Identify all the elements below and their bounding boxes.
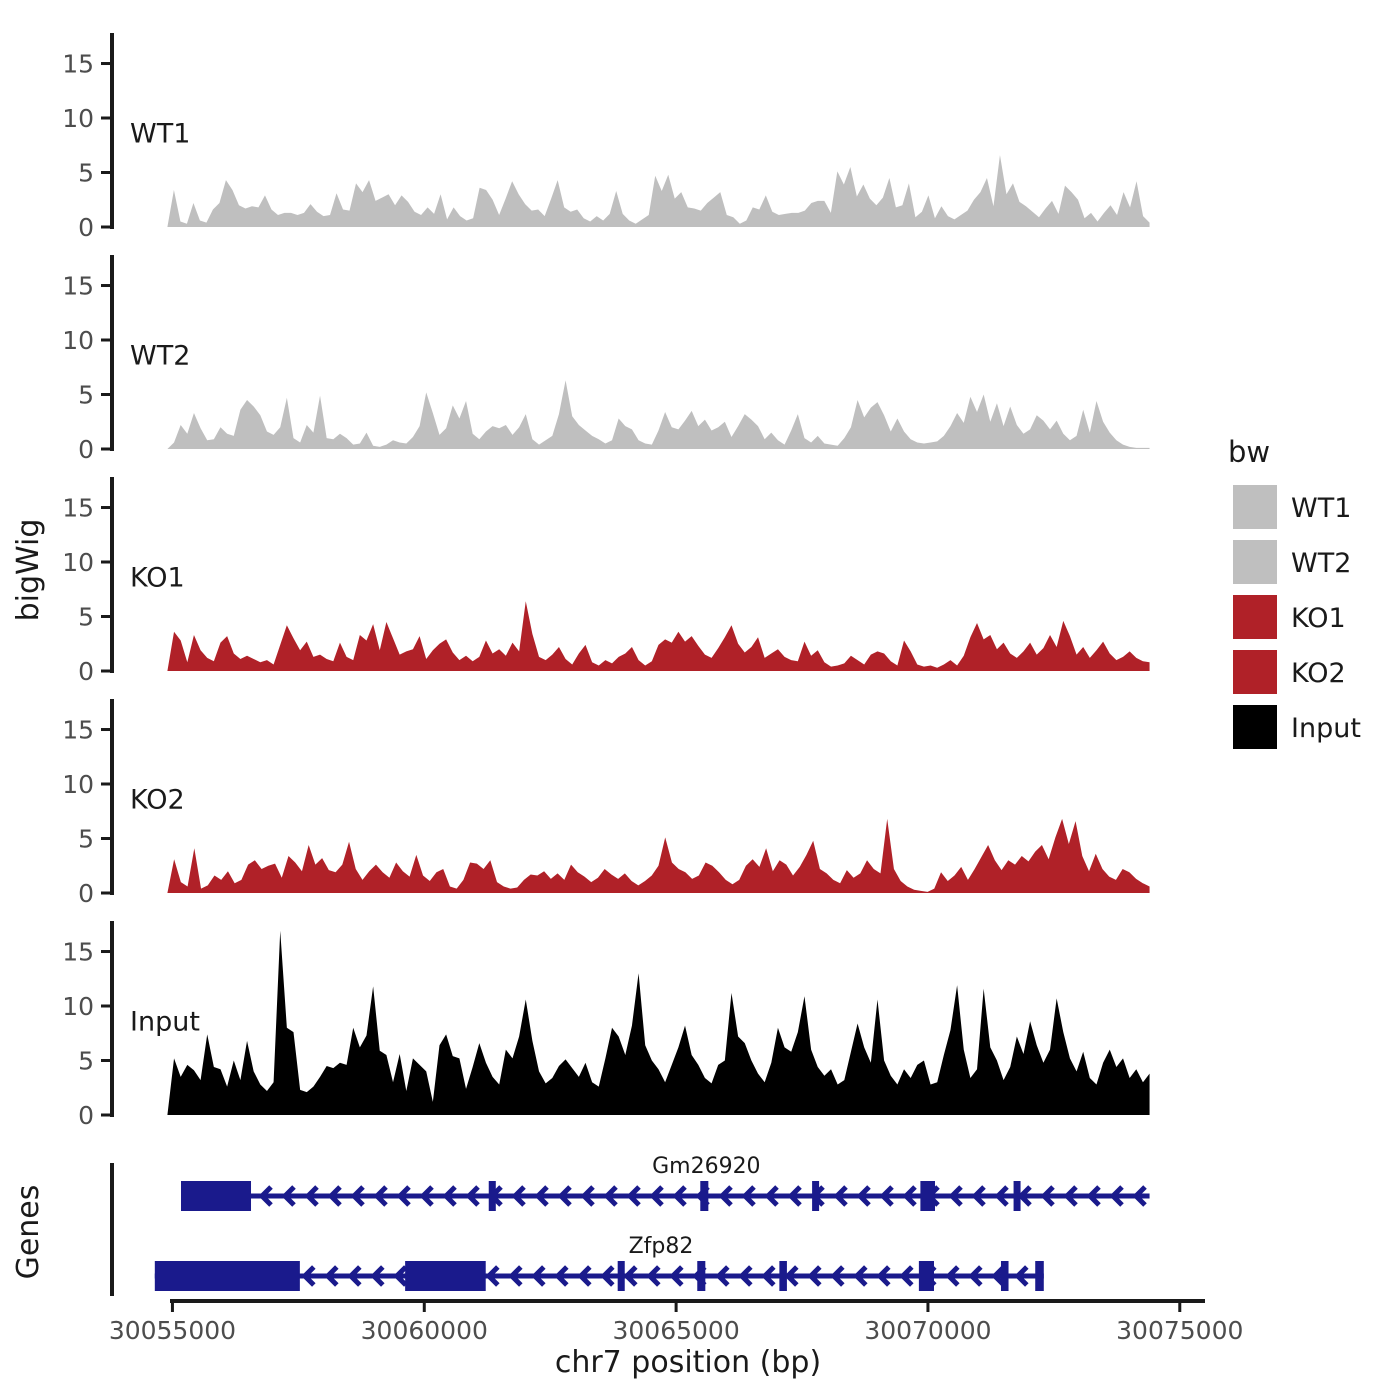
y-tick-label: 5 [78, 1047, 94, 1076]
y-tick-label: 15 [62, 272, 94, 301]
track-label-wt1: WT1 [130, 118, 190, 149]
gene-exon [700, 1181, 708, 1211]
genes-axis-title-text: Genes [11, 1185, 46, 1280]
genes-axis-title: Genes [11, 1185, 46, 1280]
gene-exon [697, 1261, 705, 1291]
legend-swatch [1233, 705, 1277, 749]
gene-exon [155, 1261, 300, 1291]
y-tick-label: 10 [62, 992, 94, 1021]
gene-name-label: Zfp82 [629, 1234, 694, 1259]
gene-exon [1001, 1261, 1009, 1291]
track-label-input: Input [130, 1006, 200, 1037]
x-tick-label: 30055000 [109, 1316, 236, 1345]
track-label-ko2: KO2 [130, 784, 185, 815]
legend-label: WT2 [1291, 548, 1351, 579]
x-axis-title: chr7 position (bp) [555, 1345, 821, 1380]
y-tick-label: 15 [62, 938, 94, 967]
legend-swatch [1233, 650, 1277, 694]
y-tick-label: 15 [62, 716, 94, 745]
gene-exon [779, 1261, 787, 1291]
x-tick-label: 30075000 [1116, 1316, 1243, 1345]
gene-exon [919, 1261, 934, 1291]
x-tick-label: 30070000 [864, 1316, 991, 1345]
legend-title: bw [1228, 435, 1270, 469]
y-tick-label: 0 [78, 213, 94, 242]
x-tick-label: 30065000 [612, 1316, 739, 1345]
gene-exon [920, 1181, 935, 1211]
gene-exon [812, 1181, 819, 1211]
bigwig-axis-title-text: bigWig [11, 519, 46, 622]
y-tick-label: 5 [78, 381, 94, 410]
y-tick-label: 10 [62, 770, 94, 799]
y-tick-label: 10 [62, 548, 94, 577]
legend-label: WT1 [1291, 493, 1351, 524]
gene-exon [181, 1181, 251, 1211]
y-tick-label: 5 [78, 159, 94, 188]
genome-browser-figure: bigWig Genes 051015WT1051015WT2051015KO1… [0, 0, 1400, 1400]
gene-name-label: Gm26920 [652, 1154, 760, 1179]
y-tick-label: 5 [78, 825, 94, 854]
y-tick-label: 0 [78, 1101, 94, 1130]
gene-exon [405, 1261, 486, 1291]
gene-exon [1035, 1261, 1044, 1291]
y-tick-label: 15 [62, 494, 94, 523]
x-tick-label: 30060000 [361, 1316, 488, 1345]
gene-exon [489, 1181, 496, 1211]
legend-label: Input [1291, 713, 1361, 744]
figure-canvas: bigWig Genes 051015WT1051015WT2051015KO1… [0, 0, 1400, 1400]
legend-swatch [1233, 540, 1277, 584]
legend-swatch [1233, 485, 1277, 529]
track-label-wt2: WT2 [130, 340, 190, 371]
y-tick-label: 10 [62, 104, 94, 133]
legend-label: KO2 [1291, 658, 1346, 689]
y-tick-label: 0 [78, 435, 94, 464]
y-tick-label: 0 [78, 657, 94, 686]
gene-exon [1014, 1181, 1021, 1211]
legend-swatch [1233, 595, 1277, 639]
y-tick-label: 0 [78, 879, 94, 908]
y-tick-label: 15 [62, 50, 94, 79]
legend-label: KO1 [1291, 603, 1346, 634]
bigwig-axis-title: bigWig [11, 519, 46, 622]
track-label-ko1: KO1 [130, 562, 185, 593]
y-tick-label: 10 [62, 326, 94, 355]
gene-exon [618, 1261, 625, 1291]
y-tick-label: 5 [78, 603, 94, 632]
